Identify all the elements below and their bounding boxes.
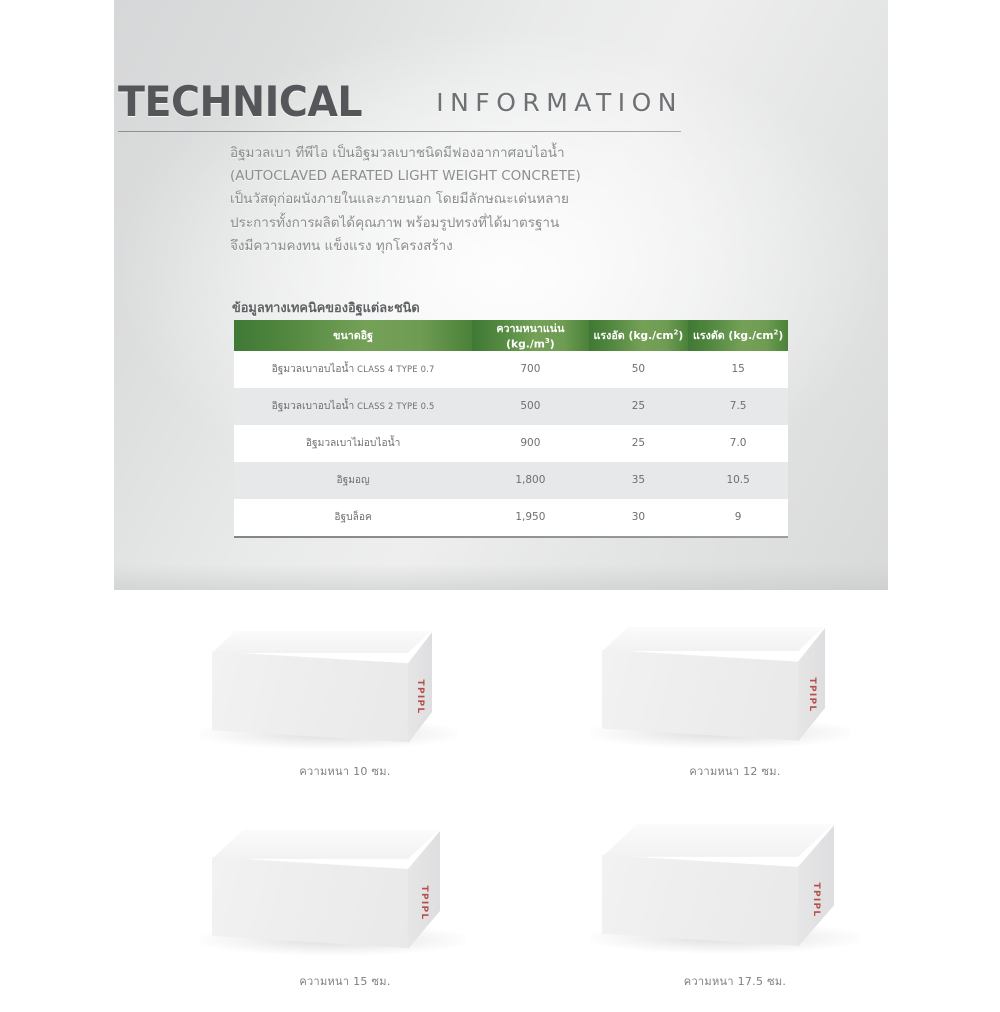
header-superscript: 3: [545, 337, 550, 345]
header-superscript: 2: [774, 328, 779, 336]
brick-top-face: [602, 824, 833, 857]
cell-density: 500: [472, 388, 588, 425]
brick-illustration: TPIPL: [540, 612, 930, 762]
brick-gallery: TPIPLความหนา 10 ซม.TPIPLความหนา 12 ซม.TP…: [0, 590, 1000, 1000]
table-body: อิฐมวลเบาอบไอน้ำ CLASS 4 TYPE 0.77005015…: [234, 351, 788, 536]
tpipl-brand-mark: TPIPL: [811, 882, 821, 918]
table-caption: ข้อมูลทางเทคนิคของอิฐแต่ละชนิด: [232, 297, 420, 318]
brick-front-face: [212, 651, 408, 743]
col-header-compressive: แรงอัด (kg./cm2): [589, 320, 689, 351]
brick-illustration: TPIPL: [150, 612, 540, 762]
cell-compressive: 25: [589, 388, 689, 425]
brick-top-face: [212, 631, 431, 653]
cell-density: 1,950: [472, 499, 588, 536]
table-bottom-rule: [234, 536, 788, 538]
table-row: อิฐบล็อค1,950309: [234, 499, 788, 536]
brick-card: TPIPLความหนา 15 ซม.: [150, 822, 540, 1012]
cell-brick-class: CLASS 2 TYPE 0.5: [354, 401, 434, 411]
technical-table-wrapper: ขนาดอิฐ ความหนาแน่น (kg./m3) แรงอัด (kg.…: [234, 320, 788, 536]
brick-front-face: [212, 857, 408, 949]
cell-flexural: 7.5: [688, 388, 788, 425]
col-header-flexural: แรงดัด (kg./cm2): [688, 320, 788, 351]
title-divider: [118, 131, 681, 132]
cell-flexural: 9: [688, 499, 788, 536]
brick-illustration: TPIPL: [540, 822, 930, 972]
cell-compressive: 50: [589, 351, 689, 388]
cell-density: 1,800: [472, 462, 588, 499]
cell-flexural: 15: [688, 351, 788, 388]
brick-caption: ความหนา 10 ซม.: [150, 762, 540, 780]
table-row: อิฐมวลเบาอบไอน้ำ CLASS 2 TYPE 0.5500257.…: [234, 388, 788, 425]
cell-brick-size: อิฐมวลเบาไม่อบไอน้ำ: [234, 425, 472, 462]
cell-flexural: 10.5: [688, 462, 788, 499]
brick-front-face: [602, 650, 798, 742]
cell-density: 700: [472, 351, 588, 388]
table-row: อิฐมอญ1,8003510.5: [234, 462, 788, 499]
cell-brick-size: อิฐบล็อค: [234, 499, 472, 536]
cell-compressive: 25: [589, 425, 689, 462]
table-row: อิฐมวลเบาอบไอน้ำ CLASS 4 TYPE 0.77005015: [234, 351, 788, 388]
brick-caption: ความหนา 17.5 ซม.: [540, 972, 930, 990]
table-row: อิฐมวลเบาไม่อบไอน้ำ900257.0: [234, 425, 788, 462]
brick-card: TPIPLความหนา 12 ซม.: [540, 612, 930, 802]
brick-card: TPIPLความหนา 10 ซม.: [150, 612, 540, 802]
brick-card: TPIPLความหนา 17.5 ซม.: [540, 822, 930, 1012]
cell-brick-class: CLASS 4 TYPE 0.7: [354, 364, 434, 374]
tpipl-brand-mark: TPIPL: [419, 885, 429, 921]
cell-compressive: 35: [589, 462, 689, 499]
cell-brick-size: อิฐมวลเบาอบไอน้ำ CLASS 4 TYPE 0.7: [234, 351, 472, 388]
title-information: INFORMATION: [436, 87, 683, 119]
brick-top-face: [212, 830, 439, 859]
brick-illustration: TPIPL: [150, 822, 540, 972]
title-technical: TECHNICAL: [118, 78, 362, 126]
cell-flexural: 7.0: [688, 425, 788, 462]
page-title: TECHNICAL INFORMATION: [118, 78, 683, 130]
cell-brick-size: อิฐมวลเบาอบไอน้ำ CLASS 2 TYPE 0.5: [234, 388, 472, 425]
table-header-row: ขนาดอิฐ ความหนาแน่น (kg./m3) แรงอัด (kg.…: [234, 320, 788, 351]
brick-caption: ความหนา 12 ซม.: [540, 762, 930, 780]
cell-brick-size: อิฐมอญ: [234, 462, 472, 499]
cell-compressive: 30: [589, 499, 689, 536]
brick-front-face: [602, 855, 798, 947]
header-superscript: 2: [674, 328, 679, 336]
intro-paragraph: อิฐมวลเบา ทีพีไอ เป็นอิฐมวลเบาชนิดมีฟองอ…: [230, 142, 700, 258]
brick-caption: ความหนา 15 ซม.: [150, 972, 540, 990]
brick-top-face: [602, 627, 824, 652]
cell-density: 900: [472, 425, 588, 462]
col-header-density: ความหนาแน่น (kg./m3): [472, 320, 588, 351]
col-header-size: ขนาดอิฐ: [234, 320, 472, 351]
technical-table: ขนาดอิฐ ความหนาแน่น (kg./m3) แรงอัด (kg.…: [234, 320, 788, 536]
tpipl-brand-mark: TPIPL: [807, 677, 817, 713]
tpipl-brand-mark: TPIPL: [415, 679, 425, 715]
